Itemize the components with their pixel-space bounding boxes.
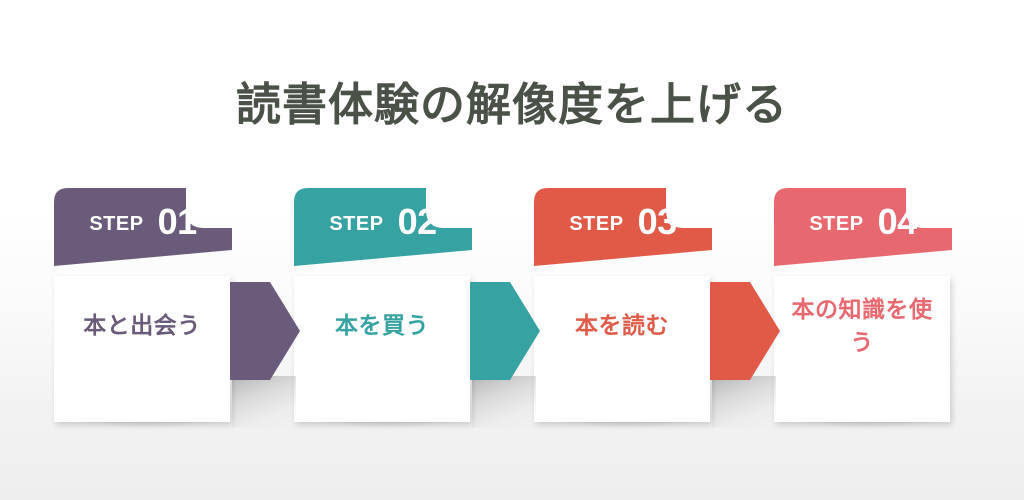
step-card-04[interactable]: STEP04本の知識を使う: [774, 188, 1014, 428]
arrow-drop-shadow: [712, 376, 776, 428]
arrow-drop-shadow: [472, 376, 536, 428]
step-label: 本を買う: [294, 276, 470, 376]
arrow-drop-shadow: [232, 376, 296, 428]
step-label: 本と出会う: [54, 276, 230, 376]
step-badge: STEP02: [294, 188, 482, 270]
step-label: 本の知識を使う: [774, 276, 950, 376]
chevron-right-icon: [230, 282, 304, 380]
page-title: 読書体験の解像度を上げる: [0, 78, 1024, 132]
step-badge: STEP04: [774, 188, 962, 270]
step-badge: STEP01: [54, 188, 242, 270]
chevron-right-icon: [470, 282, 544, 380]
step-card-02[interactable]: STEP02本を買う: [294, 188, 534, 428]
step-card-03[interactable]: STEP03本を読む: [534, 188, 774, 428]
chevron-right-icon: [710, 282, 784, 380]
step-flow: STEP01本と出会うSTEP02本を買うSTEP03本を読むSTEP04本の知…: [0, 188, 1024, 428]
step-label: 本を読む: [534, 276, 710, 376]
step-card-01[interactable]: STEP01本と出会う: [54, 188, 294, 428]
step-badge: STEP03: [534, 188, 722, 270]
